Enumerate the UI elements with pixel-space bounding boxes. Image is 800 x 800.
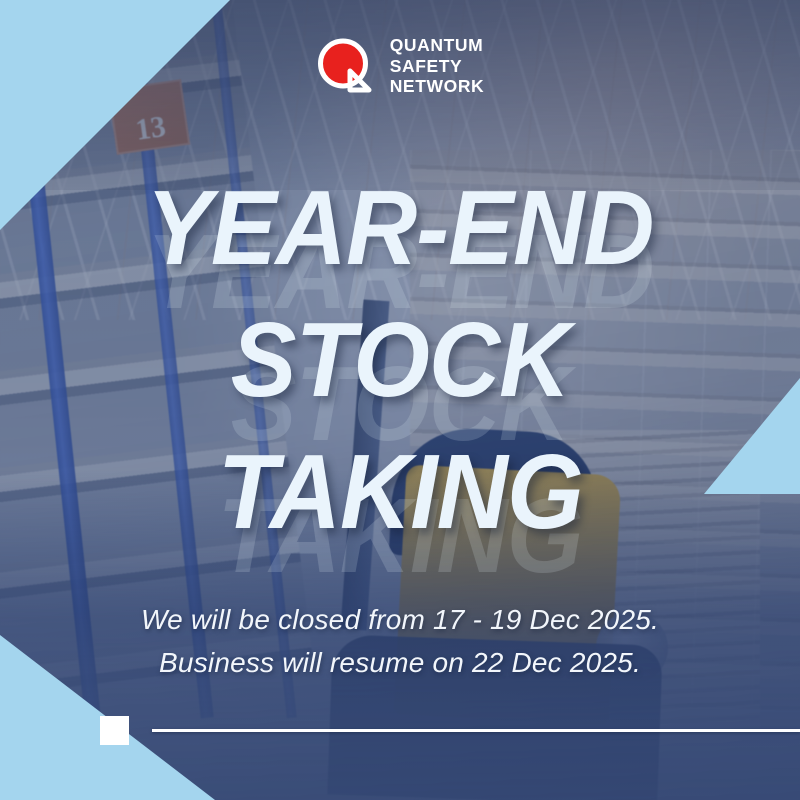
brand-logo: QUANTUM SAFETY NETWORK [0,36,800,97]
headline-line-2-wrap: STOCK STOCK [0,308,800,412]
headline-line-3-wrap: TAKING TAKING [0,440,800,544]
square-marker-icon [100,716,129,745]
headline-line-3: TAKING [218,440,583,544]
horizontal-rule-icon [152,729,800,732]
quantum-q-logo-icon [316,37,374,95]
brand-line-2: SAFETY [390,57,485,77]
headline-line-1: YEAR-END [146,176,653,280]
brand-line-3: NETWORK [390,77,485,97]
brand-line-1: QUANTUM [390,36,485,56]
brand-wordmark: QUANTUM SAFETY NETWORK [390,36,485,97]
headline-block: YEAR-END YEAR-END STOCK STOCK TAKING TAK… [0,176,800,544]
announcement-poster: 13 QUANTUM SAFETY NETWORK [0,0,800,800]
headline-line-2: STOCK [231,308,570,412]
footer-divider [100,716,800,745]
closure-dates-line: We will be closed from 17 - 19 Dec 2025. [0,604,800,636]
closure-notice: We will be closed from 17 - 19 Dec 2025.… [0,604,800,690]
headline-line-1-wrap: YEAR-END YEAR-END [0,176,800,280]
resume-date-line: Business will resume on 22 Dec 2025. [0,647,800,679]
